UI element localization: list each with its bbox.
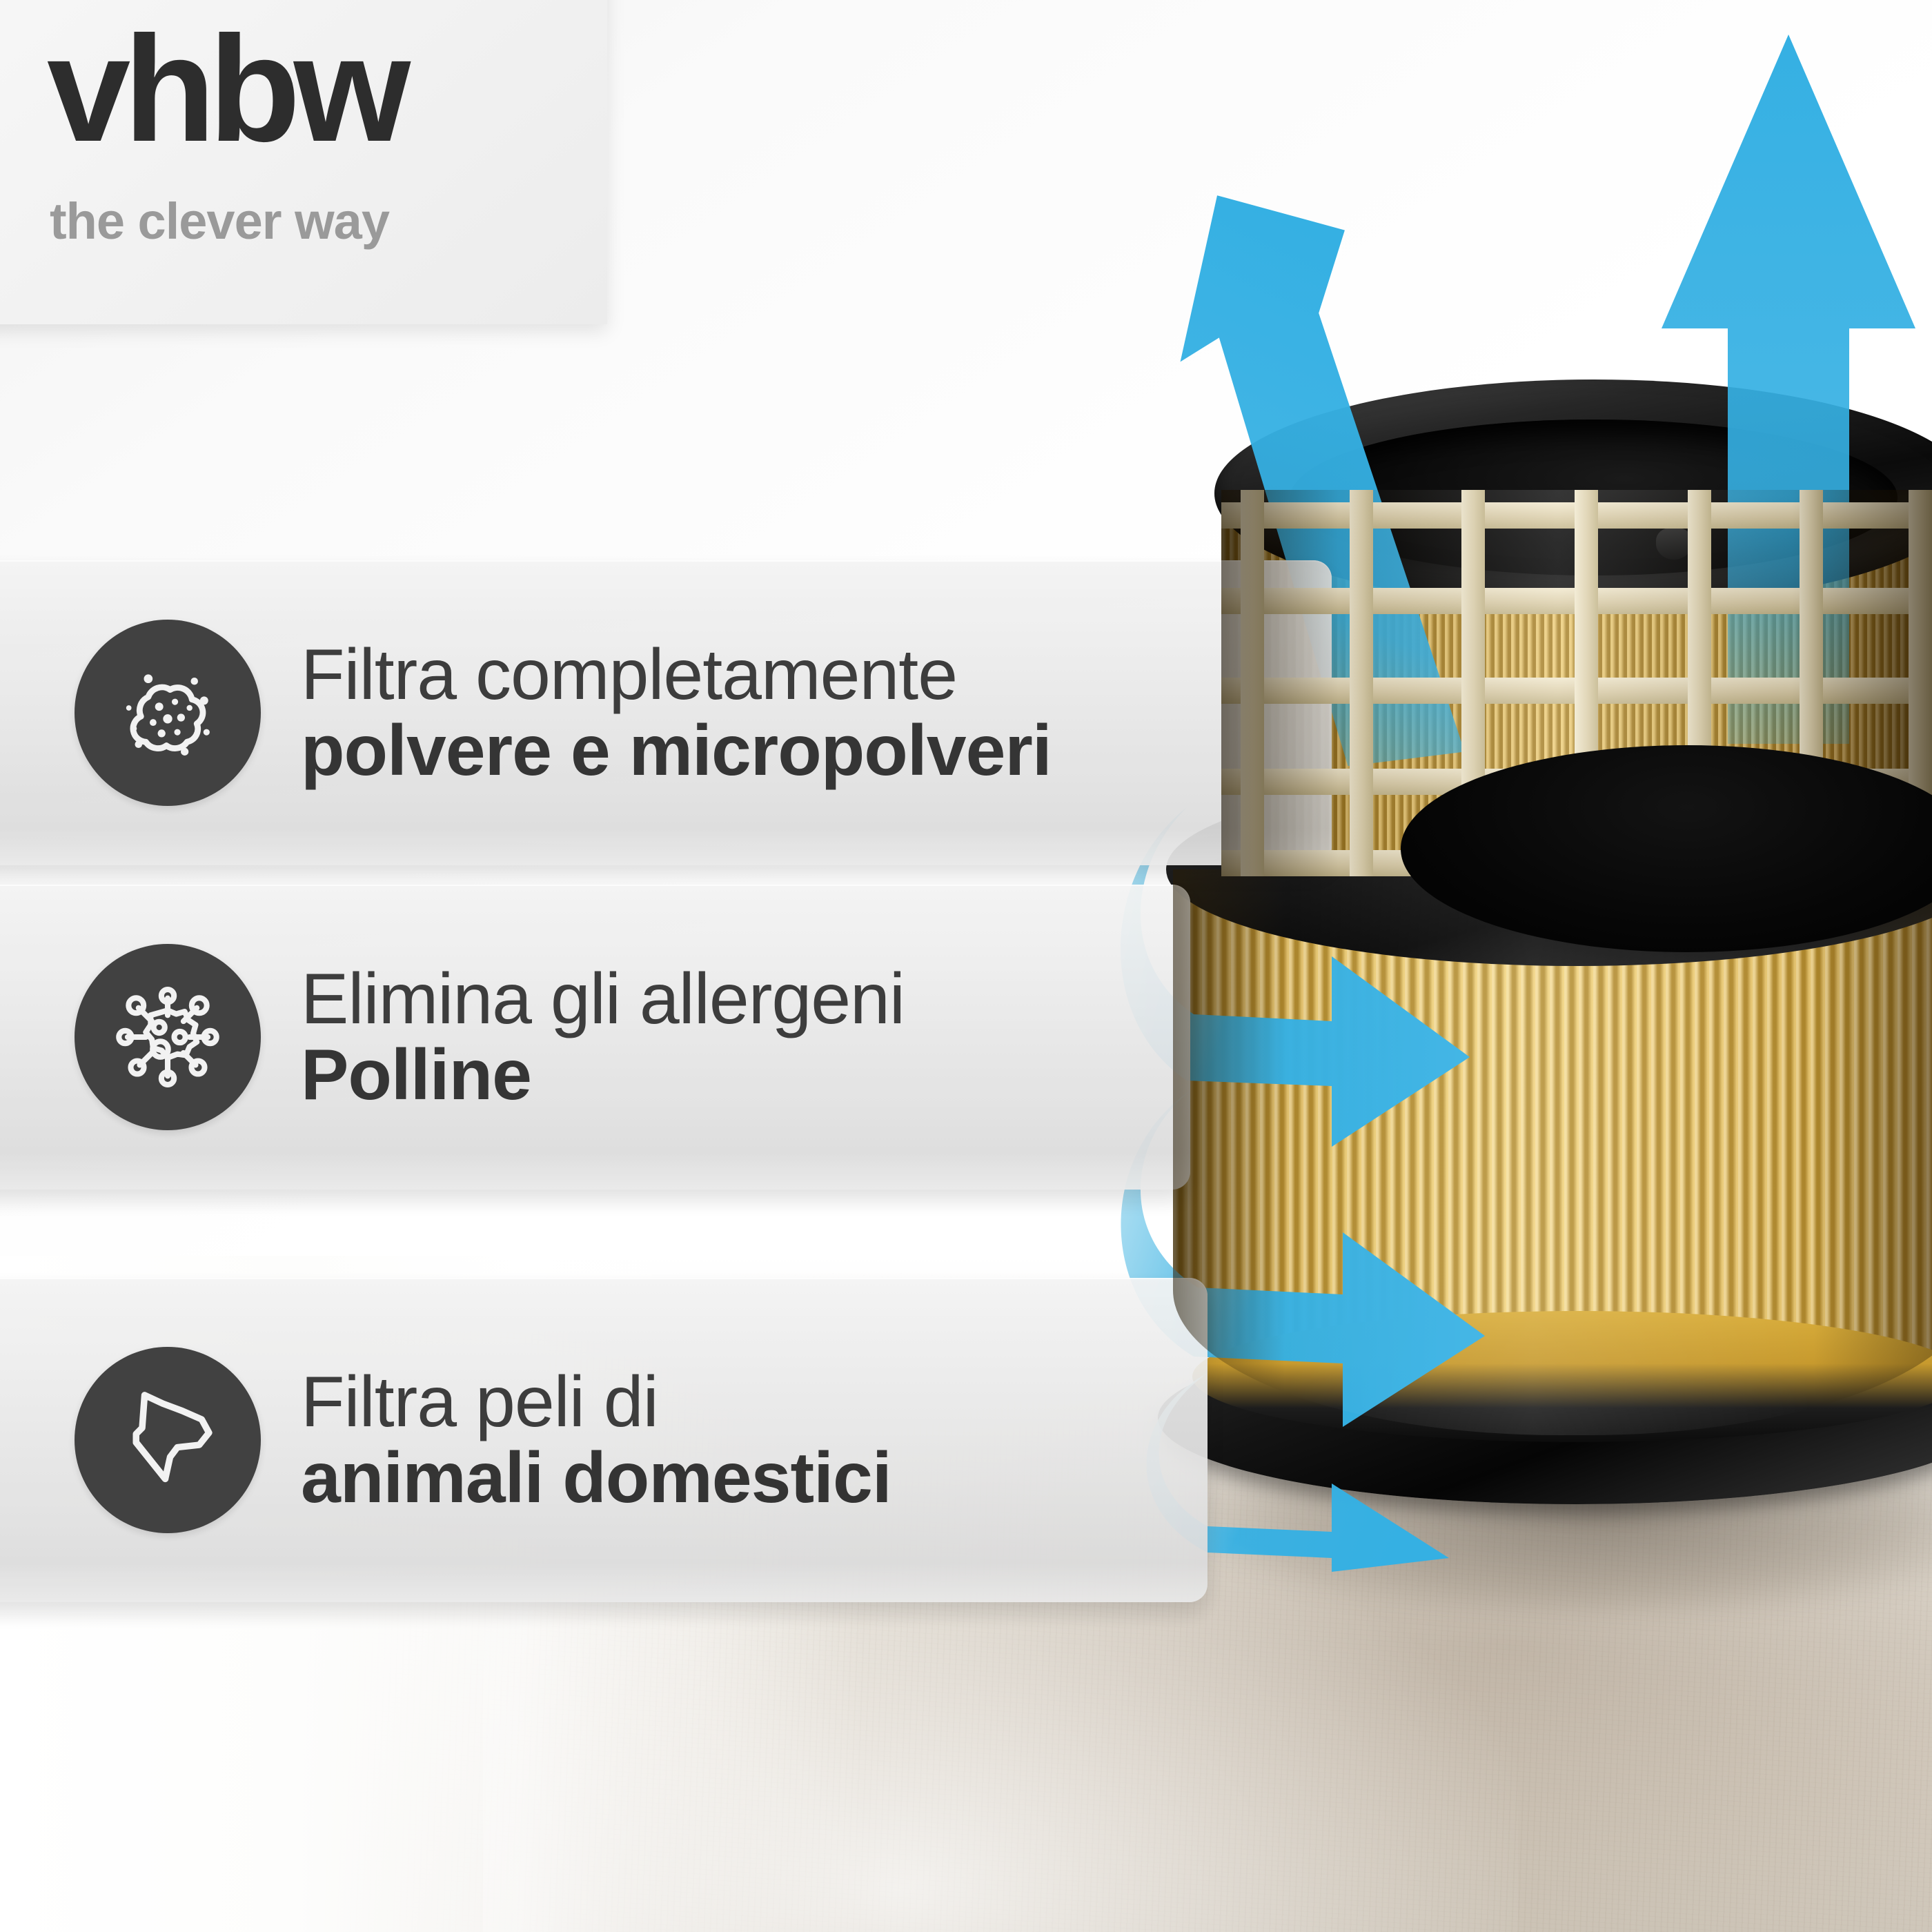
feature-text-dust: Filtra completamente polvere e micropolv… — [301, 637, 1052, 789]
feature-text-pet-hair: Filtra peli di animali domestici — [301, 1364, 891, 1516]
feature-panel-allergens: Elimina gli allergeni Polline — [0, 885, 1190, 1190]
feature-line1: Filtra completamente — [301, 637, 1052, 713]
product-infographic: vhbw the clever way Filtra completam — [0, 0, 1932, 1932]
feature-line1: Elimina gli allergeni — [301, 961, 905, 1037]
product-image-filter — [1173, 386, 1932, 1677]
feature-text-allergens: Elimina gli allergeni Polline — [301, 961, 905, 1113]
filter-pleated-paper — [1173, 869, 1932, 1435]
feature-line2: Polline — [301, 1037, 905, 1113]
dust-cloud-icon — [75, 620, 261, 806]
feature-line2: polvere e micropolveri — [301, 713, 1052, 789]
brand-tagline: the clever way — [50, 192, 389, 250]
feature-line2: animali domestici — [301, 1440, 891, 1516]
brand-logo-card: vhbw the clever way — [0, 0, 607, 324]
feature-panel-pet-hair: Filtra peli di animali domestici — [0, 1278, 1207, 1602]
dog-head-icon — [75, 1347, 261, 1533]
feature-panel-dust: Filtra completamente polvere e micropolv… — [0, 560, 1332, 865]
feature-line1: Filtra peli di — [301, 1364, 891, 1440]
brand-name: vhbw — [47, 26, 404, 152]
pollen-allergen-icon — [75, 944, 261, 1130]
